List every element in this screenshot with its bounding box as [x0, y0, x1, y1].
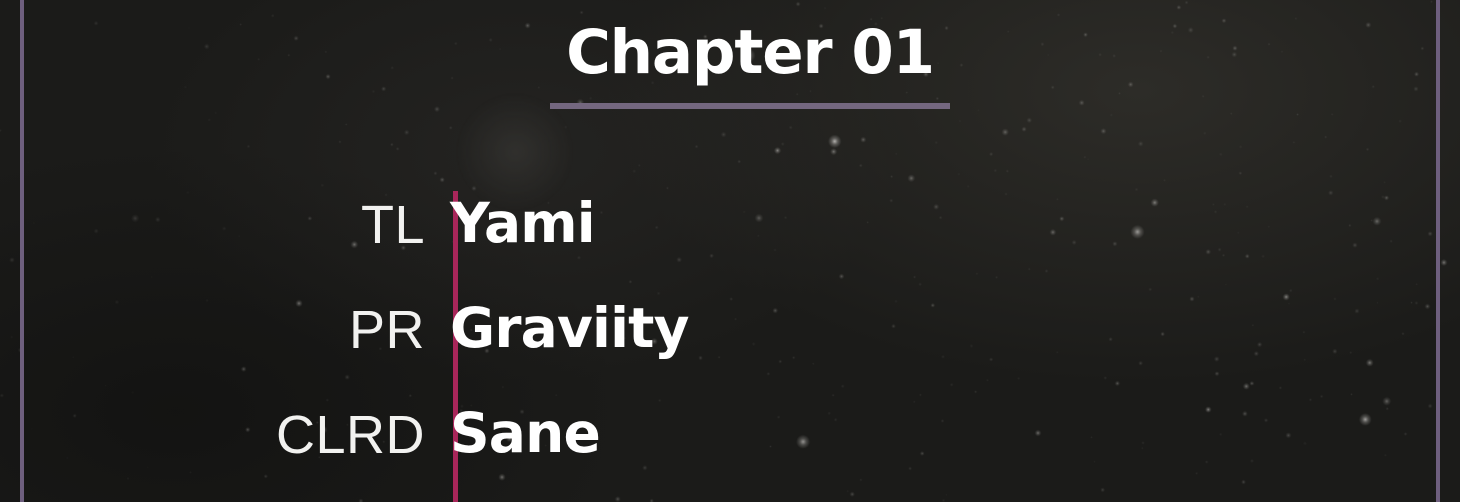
credits-list: TL Yami PR Graviity CLRD Sane: [0, 190, 1460, 502]
title-underline-rule: [550, 103, 950, 109]
credit-role-label: PR: [0, 295, 425, 357]
credit-role-label: CLRD: [0, 400, 425, 462]
credit-name-value: Graviity: [450, 295, 689, 356]
credit-row-gutter: [425, 400, 450, 502]
credits-page: Chapter 01 TL Yami PR Graviity CLRD Sane: [0, 0, 1460, 502]
title-block: Chapter 01: [550, 22, 950, 109]
credit-name-value: Yami: [450, 190, 595, 251]
credit-role-label: TL: [0, 190, 425, 252]
credit-row-gutter: [425, 190, 450, 295]
page-title: Chapter 01: [550, 22, 950, 83]
credit-name-value: Sane: [450, 400, 600, 461]
table-row: PR Graviity: [0, 295, 1460, 400]
table-row: TL Yami: [0, 190, 1460, 295]
table-row: CLRD Sane: [0, 400, 1460, 502]
credit-row-gutter: [425, 295, 450, 400]
